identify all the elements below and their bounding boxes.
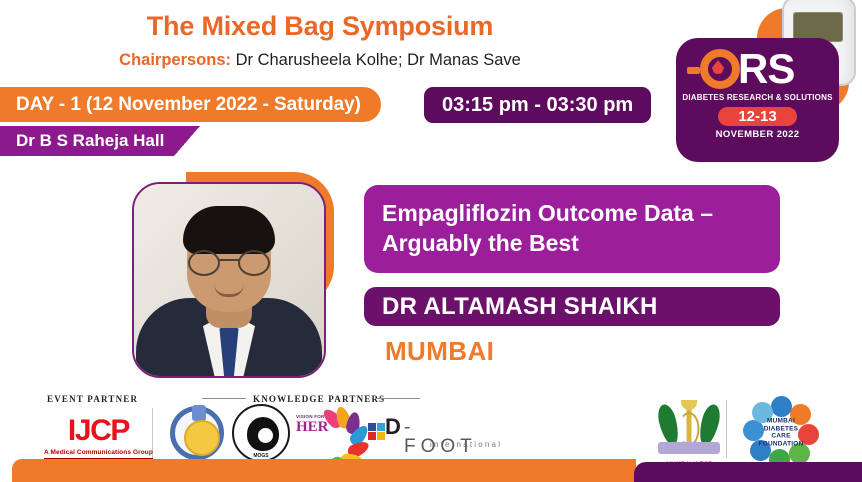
speaker-name: DR ALTAMASH SHAIKH [364,287,780,326]
page-title: The Mixed Bag Symposium [0,12,640,42]
glasses-icon [186,250,272,272]
speaker-photo [132,182,326,378]
glasses-bridge [218,259,240,261]
mumbai-diabetes-care-foundation-logo: MUMBAI DIABETES CARE FOUNDATION [742,396,820,470]
knowledge-rule-left [202,398,246,399]
drs-logo: RS DIABETES RESEARCH & SOLUTIONS 12-13 N… [676,38,839,162]
person-icon [771,396,792,417]
chairpersons-line: Chairpersons: Dr Charusheela Kolhe; Dr M… [0,51,640,70]
ijcp-wordmark: IJCP [44,416,153,446]
crest-scroll-icon [658,442,720,454]
dfoot-square-red [368,432,376,440]
session-poster: The Mixed Bag Symposium Chairpersons: Dr… [0,0,862,482]
diabetes-association-seal-icon [170,406,224,460]
dfoot-international-text: international [430,440,502,449]
glasses-left-lens [188,250,220,276]
dfoot-letter-d: D [385,416,401,438]
chairpersons-names: Dr Charusheela Kolhe; Dr Manas Save [231,51,521,69]
hall-banner: Dr B S Raheja Hall [0,126,200,156]
drs-dash-icon [687,67,700,74]
ijcp-logo: IJCP A Medical Communications Group [44,416,153,459]
talk-title: Empagliflozin Outcome Data – Arguably th… [364,185,780,273]
caduceus-cup-icon [681,400,697,410]
dfoot-square-yellow [377,432,385,440]
mumbai-west-crest-logo: MUMBAI WEST [656,398,722,468]
dfoot-wordmark: - FOOT [404,418,477,456]
speaker-city: MUMBAI [385,336,494,367]
drs-letters-rs: RS [738,46,794,92]
mdcf-wordmark: MUMBAI DIABETES CARE FOUNDATION [759,418,804,449]
bottom-purple-bar [634,462,862,482]
hall-name: Dr B S Raheja Hall [0,126,174,156]
header-block: The Mixed Bag Symposium Chairpersons: Dr… [0,0,640,70]
time-badge: 03:15 pm - 03:30 pm [424,87,651,123]
baby-figure-icon [258,428,273,443]
mogs-seal-icon: MOGS [232,404,290,462]
photo-hair [183,206,275,254]
event-partner-label: EVENT PARTNER [47,394,138,404]
wreath-right-icon [696,403,723,448]
day-badge: DAY - 1 (12 November 2022 - Saturday) [0,87,381,122]
caduceus-snake-icon [679,412,700,446]
event-month-year: NOVEMBER 2022 [676,129,839,140]
seal-inner-disc [184,420,220,456]
knowledge-rule-right [376,398,420,399]
dfoot-square-cyan [377,423,385,431]
hall-banner-tail [174,126,200,156]
drs-wordmark: RS [676,46,839,92]
dfoot-square-blue [368,423,376,431]
seal-ribbon [192,405,206,421]
ijcp-tagline: A Medical Communications Group [44,449,153,459]
footer-divider-right [726,400,727,458]
glasses-right-lens [238,250,270,276]
chairpersons-label: Chairpersons: [119,51,231,69]
her-wordmark: HER [296,420,329,435]
drs-subtitle: DIABETES RESEARCH & SOLUTIONS [676,93,839,102]
event-dates-pill: 12-13 [718,107,796,126]
bottom-orange-bar [12,459,636,482]
